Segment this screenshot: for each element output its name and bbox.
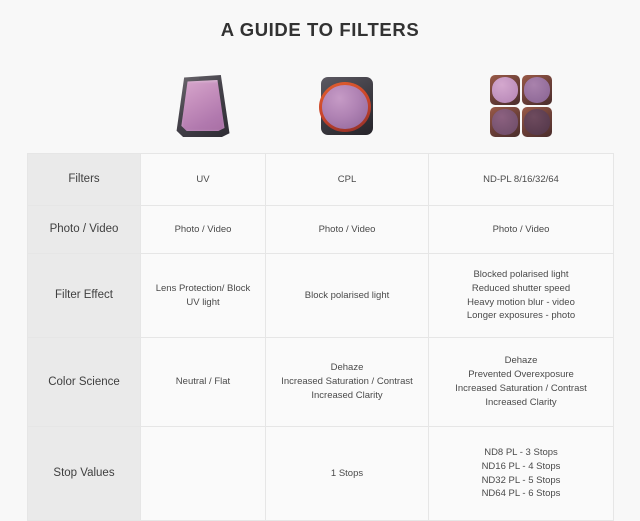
uv-filter-icon	[176, 75, 230, 137]
nd32-filter-glass	[492, 109, 518, 135]
table-row: Photo / Video Photo / Video Photo / Vide…	[28, 206, 614, 254]
page-title: A GUIDE TO FILTERS	[0, 19, 640, 41]
cpl-filter-image-cell	[265, 66, 428, 146]
cell-photo-video-ndpl: Photo / Video	[429, 206, 614, 254]
nd16-filter-glass	[524, 77, 550, 103]
nd8-filter-icon	[490, 75, 520, 105]
cell-stop-values-ndpl: ND8 PL - 3 Stops ND16 PL - 4 Stops ND32 …	[429, 427, 614, 521]
cell-filters-uv: UV	[141, 154, 266, 206]
nd64-filter-icon	[522, 107, 552, 137]
cpl-filter-glass	[322, 85, 368, 129]
cell-filter-effect-uv: Lens Protection/ Block UV light	[141, 254, 266, 338]
product-images-row	[27, 66, 613, 146]
cell-color-science-uv: Neutral / Flat	[141, 338, 266, 427]
cell-color-science-ndpl: Dehaze Prevented Overexposure Increased …	[429, 338, 614, 427]
table-row: Filters UV CPL ND-PL 8/16/32/64	[28, 154, 614, 206]
cell-photo-video-cpl: Photo / Video	[266, 206, 429, 254]
nd8-filter-glass	[492, 77, 518, 103]
nd16-filter-icon	[522, 75, 552, 105]
table-row: Color Science Neutral / Flat Dehaze Incr…	[28, 338, 614, 427]
cell-color-science-cpl: Dehaze Increased Saturation / Contrast I…	[266, 338, 429, 427]
cpl-filter-icon	[318, 76, 376, 136]
uv-filter-glass	[181, 80, 225, 131]
table-row: Filter Effect Lens Protection/ Block UV …	[28, 254, 614, 338]
ndpl-filter-image-cell	[428, 66, 613, 146]
cell-filter-effect-ndpl: Blocked polarised light Reduced shutter …	[429, 254, 614, 338]
uv-filter-notch	[199, 77, 208, 80]
cell-stop-values-uv	[141, 427, 266, 521]
nd32-filter-icon	[490, 107, 520, 137]
nd64-filter-glass	[524, 109, 550, 135]
row-label-photo-video: Photo / Video	[28, 206, 141, 254]
row-label-color-science: Color Science	[28, 338, 141, 427]
row-label-stop-values: Stop Values	[28, 427, 141, 521]
cell-stop-values-cpl: 1 Stops	[266, 427, 429, 521]
ndpl-filter-set-icon	[490, 75, 552, 137]
cell-filters-cpl: CPL	[266, 154, 429, 206]
cell-filters-ndpl: ND-PL 8/16/32/64	[429, 154, 614, 206]
uv-filter-image-cell	[140, 66, 265, 146]
filters-comparison-table: Filters UV CPL ND-PL 8/16/32/64 Photo / …	[27, 153, 614, 521]
row-label-filters: Filters	[28, 154, 141, 206]
cell-photo-video-uv: Photo / Video	[141, 206, 266, 254]
table-row: Stop Values 1 Stops ND8 PL - 3 Stops ND1…	[28, 427, 614, 521]
cell-filter-effect-cpl: Block polarised light	[266, 254, 429, 338]
row-label-filter-effect: Filter Effect	[28, 254, 141, 338]
